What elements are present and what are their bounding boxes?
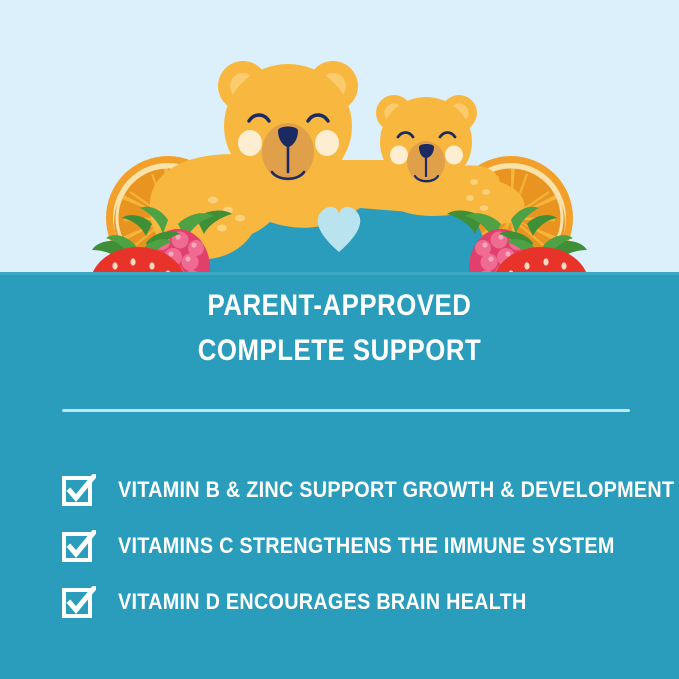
list-item: VITAMIN D ENCOURAGES BRAIN HEALTH <box>62 574 662 630</box>
divider <box>62 409 630 412</box>
list-item: VITAMIN B & ZINC SUPPORT GROWTH & DEVELO… <box>62 462 662 518</box>
hero-illustration <box>0 0 679 300</box>
headline-line-1: PARENT-APPROVED <box>48 283 632 328</box>
benefit-text: VITAMIN D ENCOURAGES BRAIN HEALTH <box>118 589 527 615</box>
list-item: VITAMINS C STRENGTHENS THE IMMUNE SYSTEM <box>62 518 662 574</box>
teal-panel-top-edge <box>0 272 679 275</box>
benefit-text: VITAMIN B & ZINC SUPPORT GROWTH & DEVELO… <box>118 477 674 503</box>
checkbox-checked-icon <box>62 474 96 507</box>
page-title: PARENT-APPROVED COMPLETE SUPPORT <box>48 283 632 373</box>
checkbox-checked-icon <box>62 586 96 619</box>
checkbox-checked-icon <box>62 530 96 563</box>
headline-line-2: COMPLETE SUPPORT <box>48 328 632 373</box>
benefit-text: VITAMINS C STRENGTHENS THE IMMUNE SYSTEM <box>118 533 615 559</box>
product-feature-graphic: PARENT-APPROVED COMPLETE SUPPORT VITAMIN… <box>0 0 679 679</box>
benefits-list: VITAMIN B & ZINC SUPPORT GROWTH & DEVELO… <box>62 462 662 630</box>
